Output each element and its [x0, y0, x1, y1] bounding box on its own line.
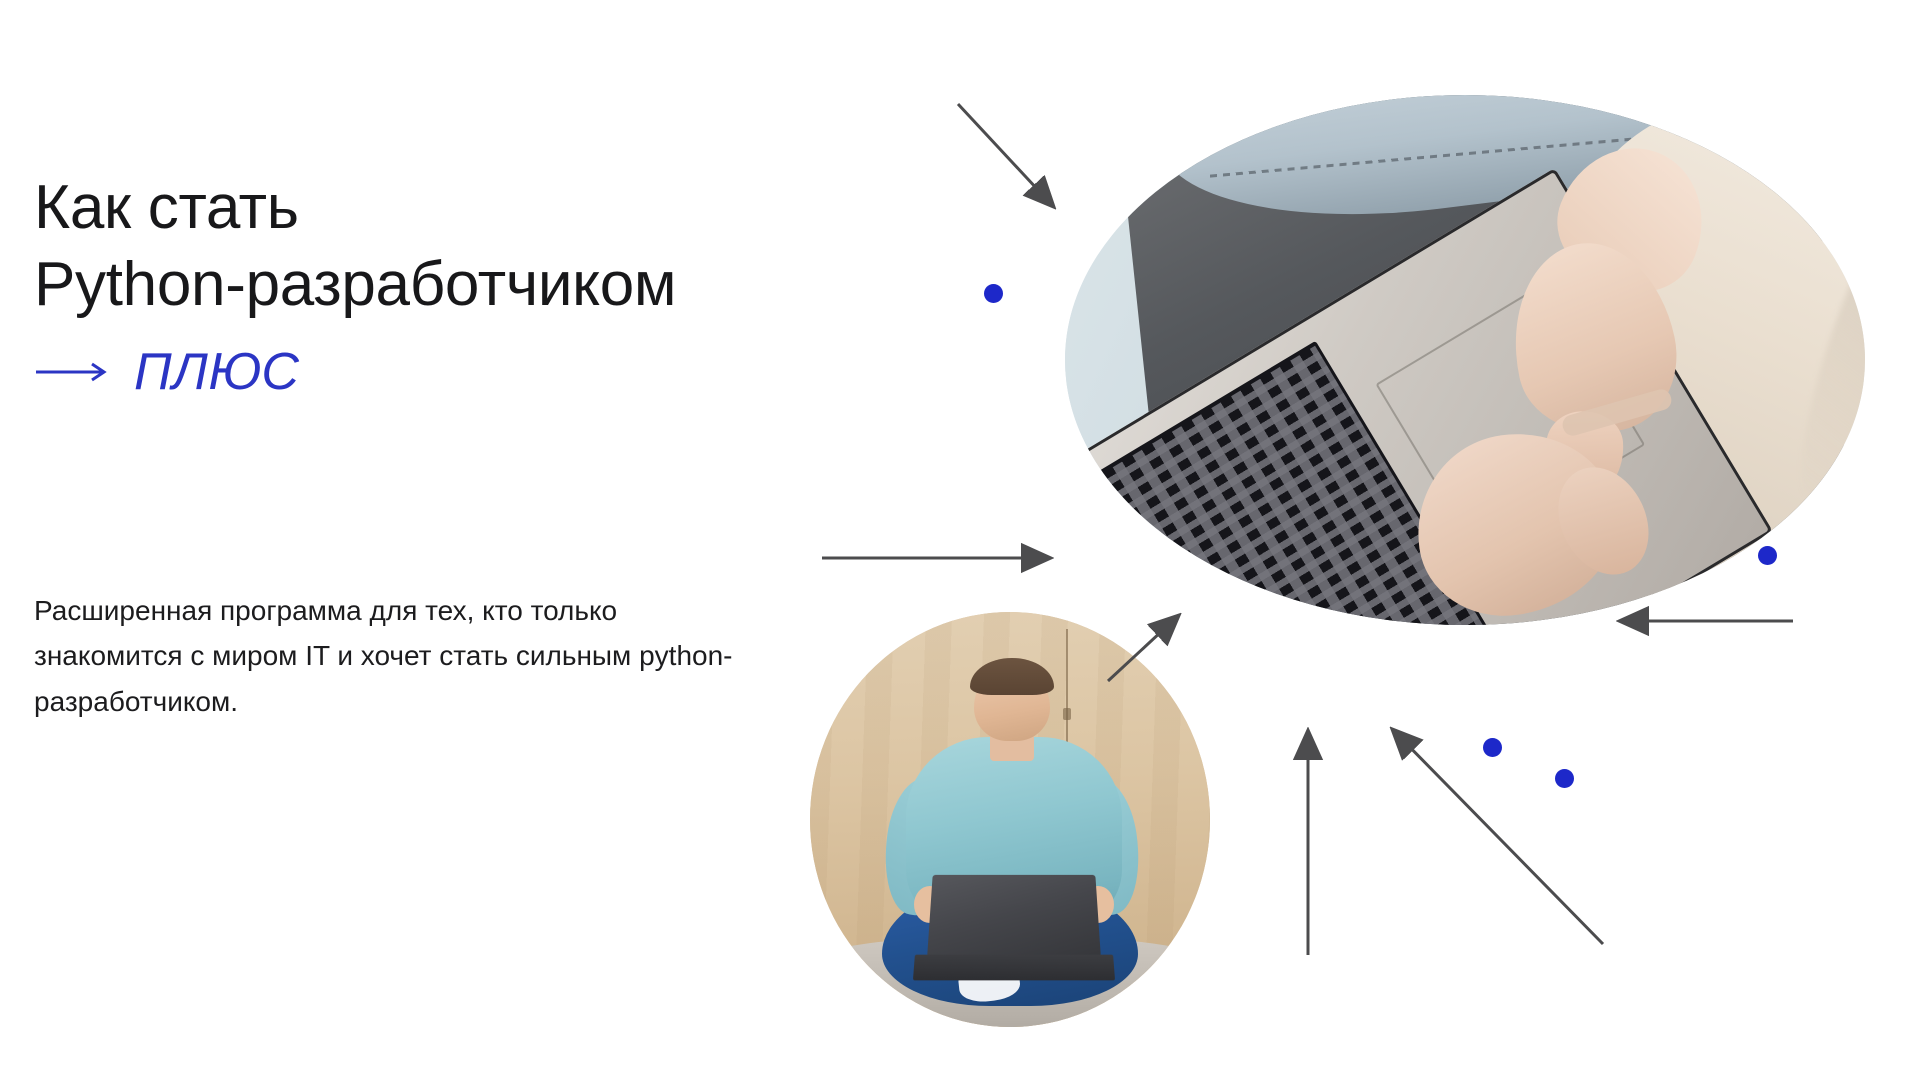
- hands-typing-on-laptop-photo: [1065, 95, 1865, 625]
- photo-scene: [1065, 95, 1865, 625]
- headline-line-1: Как стать: [34, 170, 994, 247]
- page-title: Как стать Python-разработчиком: [34, 170, 994, 324]
- slide-canvas: Как стать Python-разработчиком ПЛЮС Расш…: [0, 0, 1915, 1077]
- arrow-up-left-diagonal: [1394, 731, 1603, 944]
- headline-block: Как стать Python-разработчиком ПЛЮС: [34, 170, 994, 398]
- photo-man-laptop: [927, 875, 1101, 957]
- accent-dot-2: [1758, 546, 1777, 565]
- long-right-arrow-icon: [34, 359, 112, 385]
- accent-dot-1: [984, 284, 1003, 303]
- lead-paragraph: Расширенная программа для тех, кто тольк…: [34, 588, 734, 724]
- plus-label: ПЛЮС: [134, 346, 299, 398]
- accent-dot-4: [1555, 769, 1574, 788]
- plus-badge: ПЛЮС: [34, 346, 994, 398]
- photo-cream-fold: [1780, 198, 1865, 509]
- headline-line-2: Python-разработчиком: [34, 247, 994, 324]
- man-sitting-with-laptop-photo: [810, 612, 1210, 1027]
- accent-dot-3: [1483, 738, 1502, 757]
